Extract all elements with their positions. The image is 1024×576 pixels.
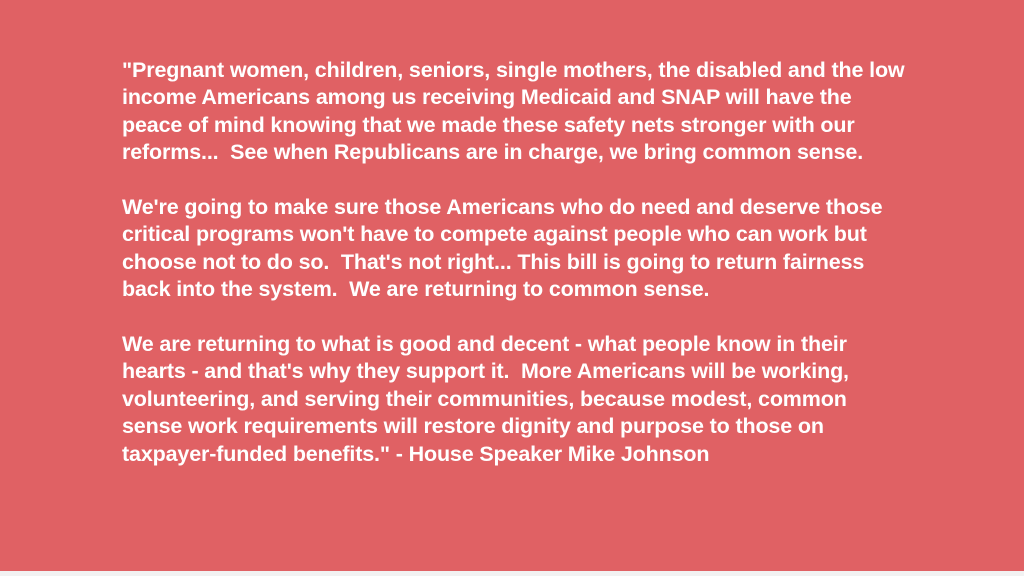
paragraph-spacer-2 (122, 304, 912, 331)
quote-paragraph-1: "Pregnant women, children, seniors, sing… (122, 57, 912, 167)
quote-paragraph-2: We're going to make sure those Americans… (122, 194, 912, 304)
quote-paragraph-3: We are returning to what is good and dec… (122, 331, 912, 468)
bottom-edge-strip (0, 571, 1024, 576)
quote-text-block: "Pregnant women, children, seniors, sing… (122, 57, 912, 468)
quote-slide: "Pregnant women, children, seniors, sing… (0, 0, 1024, 576)
paragraph-spacer-1 (122, 167, 912, 194)
